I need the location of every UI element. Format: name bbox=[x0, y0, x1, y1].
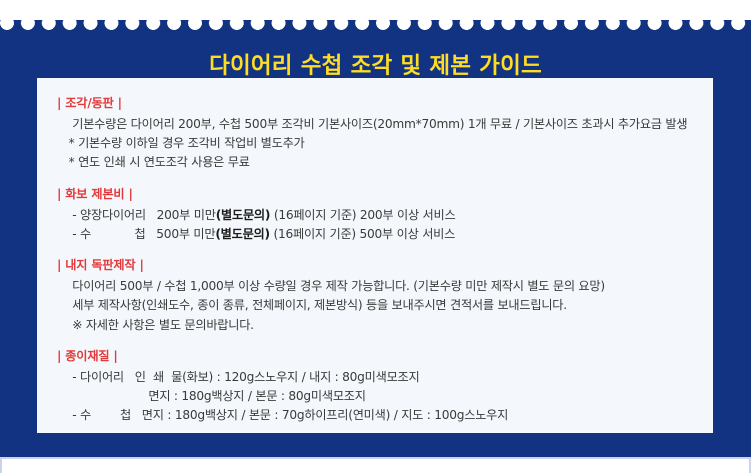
section-line: * 연도 인쇄 시 연도조각 사용은 무료 bbox=[65, 153, 693, 172]
guide-section: | 내지 독판제작 | 다이어리 500부 / 수첩 1,000부 이상 수량일… bbox=[57, 256, 693, 335]
content-card-inner: | 조각/동판 | 기본수량은 다이어리 200부, 수첩 500부 조각비 기… bbox=[37, 78, 713, 436]
section-heading: | 종이재질 | bbox=[57, 347, 693, 366]
section-heading: | 내지 독판제작 | bbox=[57, 256, 693, 275]
sections-container: | 조각/동판 | 기본수량은 다이어리 200부, 수첩 500부 조각비 기… bbox=[57, 94, 693, 426]
line-text: 다이어리 500부 / 수첩 1,000부 이상 수량일 경우 제작 가능합니다… bbox=[65, 279, 605, 293]
line-emphasis: (별도문의) bbox=[215, 227, 270, 241]
page-title: 다이어리 수첩 조각 및 제본 가이드 bbox=[0, 53, 751, 80]
line-text-tail: (16페이지 기준) 500부 이상 서비스 bbox=[270, 227, 455, 241]
line-text: * 기본수량 이하일 경우 조각비 작업비 별도추가 bbox=[65, 136, 305, 150]
section-body: - 양장다이어리 200부 미만(별도문의) (16페이지 기준) 200부 이… bbox=[57, 206, 693, 245]
guide-section: | 종이재질 | - 다이어리 인 쇄 물(화보) : 120g스노우지 / 내… bbox=[57, 347, 693, 426]
section-line: - 수 첩 500부 미만(별도문의) (16페이지 기준) 500부 이상 서… bbox=[65, 225, 693, 244]
line-text: - 수 첩 500부 미만 bbox=[65, 227, 215, 241]
line-text: * 연도 인쇄 시 연도조각 사용은 무료 bbox=[65, 155, 250, 169]
line-text: 기본수량은 다이어리 200부, 수첩 500부 조각비 기본사이즈(20mm*… bbox=[65, 117, 687, 131]
guide-section: | 조각/동판 | 기본수량은 다이어리 200부, 수첩 500부 조각비 기… bbox=[57, 94, 693, 173]
section-line: - 다이어리 인 쇄 물(화보) : 120g스노우지 / 내지 : 80g미색… bbox=[65, 368, 693, 387]
section-line: * 기본수량 이하일 경우 조각비 작업비 별도추가 bbox=[65, 134, 693, 153]
content-card: | 조각/동판 | 기본수량은 다이어리 200부, 수첩 500부 조각비 기… bbox=[37, 78, 713, 433]
section-line: - 양장다이어리 200부 미만(별도문의) (16페이지 기준) 200부 이… bbox=[65, 206, 693, 225]
section-line: ※ 자세한 사항은 별도 문의바랍니다. bbox=[65, 316, 693, 335]
guide-page: 다이어리 수첩 조각 및 제본 가이드 | 조각/동판 | 기본수량은 다이어리… bbox=[0, 0, 751, 473]
section-body: 다이어리 500부 / 수첩 1,000부 이상 수량일 경우 제작 가능합니다… bbox=[57, 277, 693, 335]
section-line: - 수 첩 면지 : 180g백상지 / 본문 : 70g하이프리(연미색) /… bbox=[65, 406, 693, 425]
guide-section: | 화보 제본비 | - 양장다이어리 200부 미만(별도문의) (16페이지… bbox=[57, 185, 693, 244]
line-text: 세부 제작사항(인쇄도수, 종이 종류, 전체페이지, 제본방식) 등을 보내주… bbox=[65, 298, 567, 312]
section-body: 기본수량은 다이어리 200부, 수첩 500부 조각비 기본사이즈(20mm*… bbox=[57, 115, 693, 173]
section-line: 면지 : 180g백상지 / 본문 : 80g미색모조지 bbox=[65, 387, 693, 406]
section-heading: | 화보 제본비 | bbox=[57, 185, 693, 204]
section-body: - 다이어리 인 쇄 물(화보) : 120g스노우지 / 내지 : 80g미색… bbox=[57, 368, 693, 426]
bottom-left-border bbox=[0, 459, 2, 473]
section-heading: | 조각/동판 | bbox=[57, 94, 693, 113]
scallop-edge-decoration bbox=[0, 20, 751, 34]
line-text: 면지 : 180g백상지 / 본문 : 80g미색모조지 bbox=[65, 389, 366, 403]
line-emphasis: (별도문의) bbox=[216, 208, 271, 222]
line-text: ※ 자세한 사항은 별도 문의바랍니다. bbox=[65, 318, 254, 332]
section-line: 다이어리 500부 / 수첩 1,000부 이상 수량일 경우 제작 가능합니다… bbox=[65, 277, 693, 296]
line-text: - 다이어리 인 쇄 물(화보) : 120g스노우지 / 내지 : 80g미색… bbox=[65, 370, 419, 384]
top-white-strip bbox=[0, 0, 751, 20]
bottom-white-area bbox=[0, 459, 751, 473]
line-text-tail: (16페이지 기준) 200부 이상 서비스 bbox=[270, 208, 455, 222]
line-text: - 수 첩 면지 : 180g백상지 / 본문 : 70g하이프리(연미색) /… bbox=[65, 408, 508, 422]
section-line: 세부 제작사항(인쇄도수, 종이 종류, 전체페이지, 제본방식) 등을 보내주… bbox=[65, 296, 693, 315]
line-text: - 양장다이어리 200부 미만 bbox=[65, 208, 216, 222]
section-line: 기본수량은 다이어리 200부, 수첩 500부 조각비 기본사이즈(20mm*… bbox=[65, 115, 693, 134]
